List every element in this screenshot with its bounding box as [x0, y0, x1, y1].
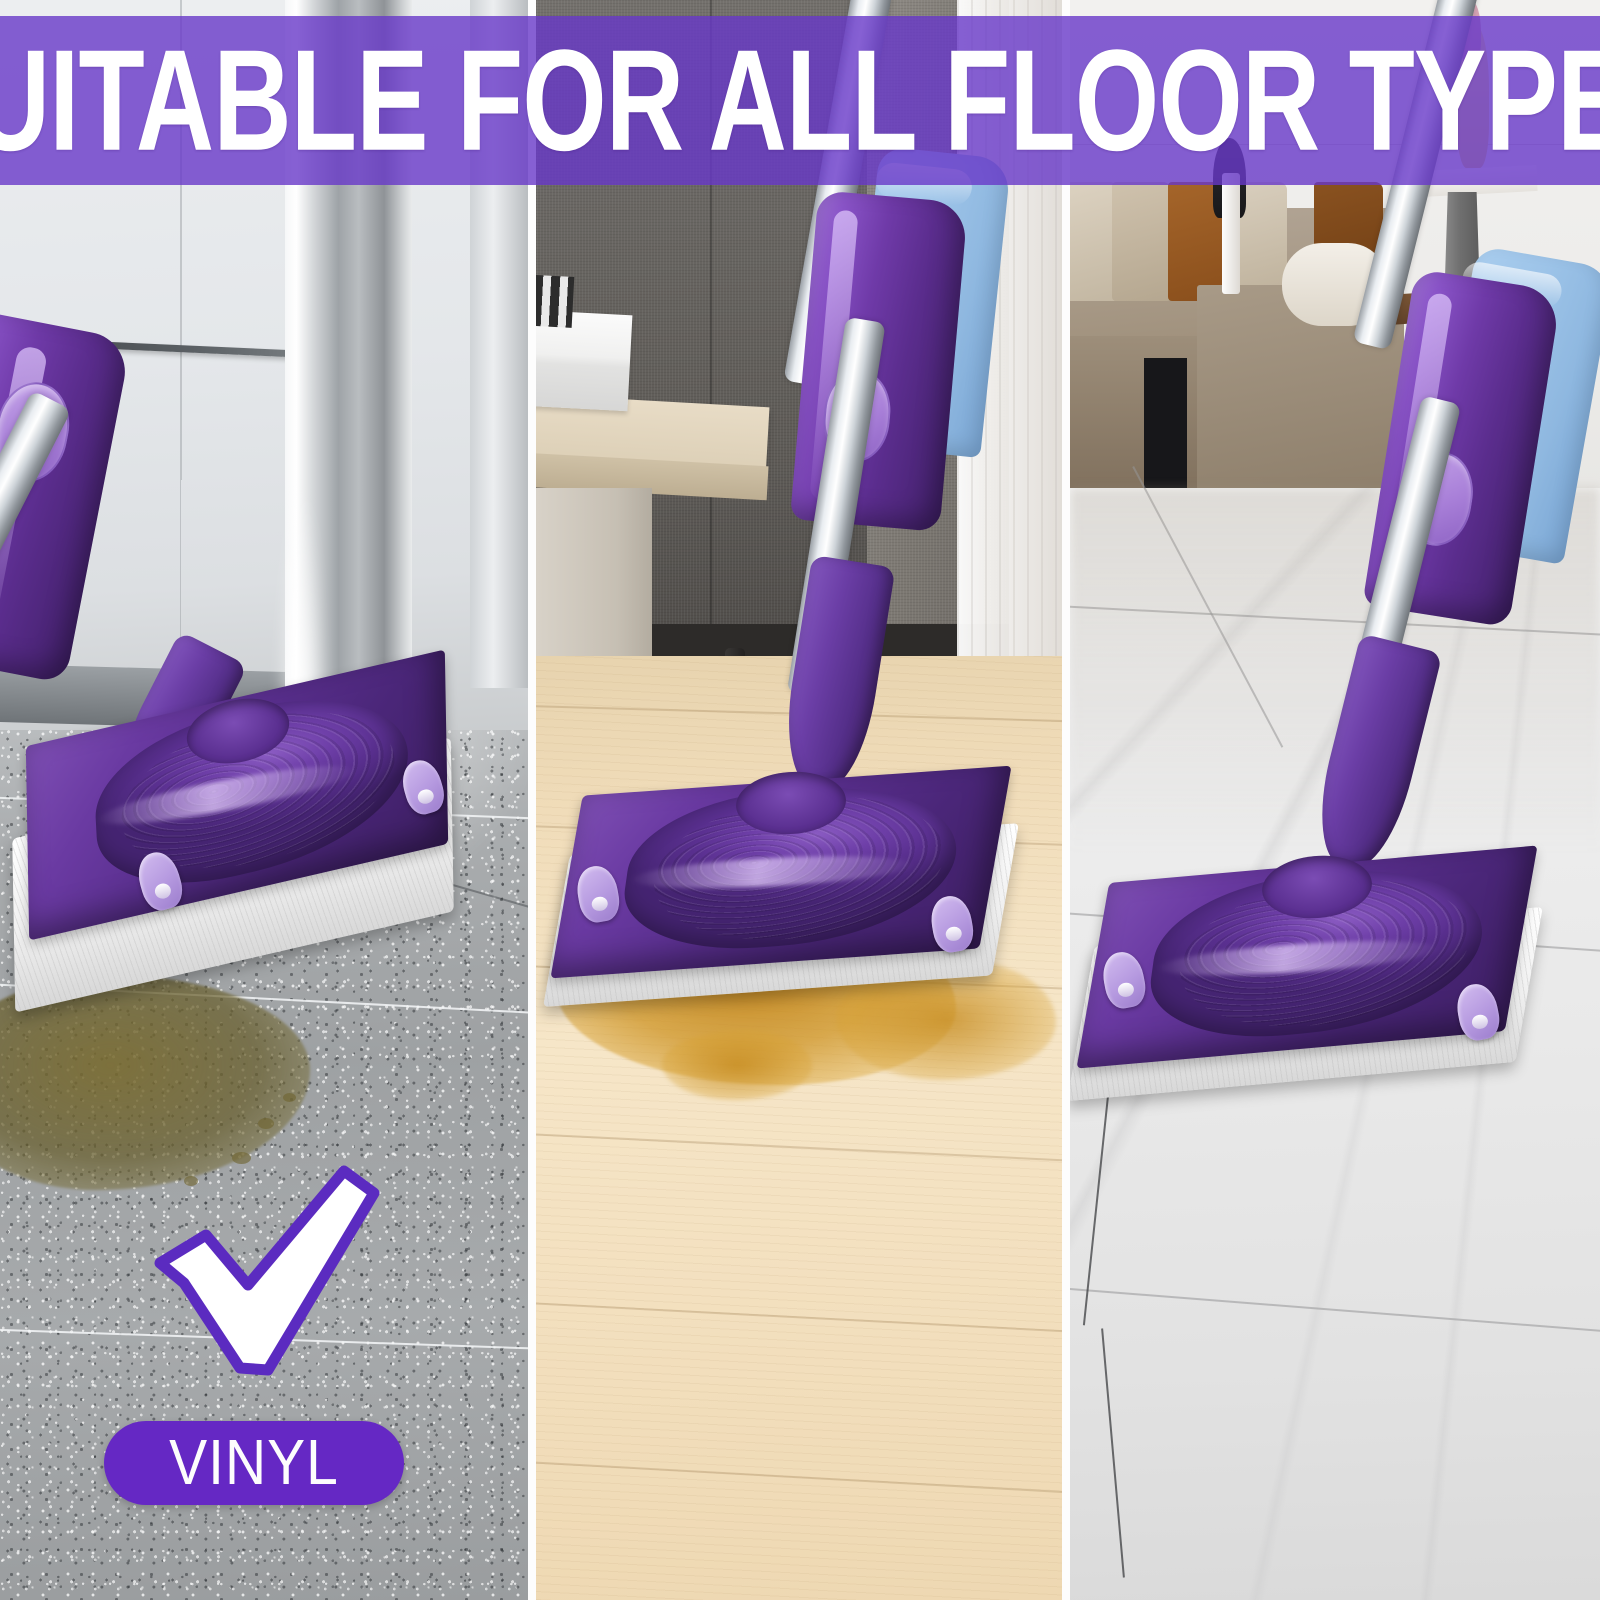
banner-title: SUITABLE FOR ALL FLOOR TYPES: [0, 29, 1600, 173]
side-console: [1144, 358, 1186, 502]
spill-droplet: [283, 1093, 296, 1102]
book-cover-graphic: [536, 273, 574, 328]
panel-divider: [528, 0, 536, 1600]
floor-type-pill-vinyl[interactable]: VINYL: [104, 1421, 404, 1505]
pill-label-vinyl: VINYL: [169, 1431, 339, 1495]
liquid-spill-secondary: [662, 1030, 812, 1100]
panel-hardwood: HARDWOOD: [536, 0, 1062, 1600]
sofa-cushion: [1070, 182, 1118, 300]
sofa-cushion: [1112, 182, 1170, 300]
panel-vinyl: VINYL: [0, 0, 528, 1600]
spill-droplet: [258, 1118, 274, 1129]
product-feature-image: VINYL: [0, 0, 1600, 1600]
panel-tile: TILE: [1070, 0, 1600, 1600]
panel-divider: [1062, 0, 1070, 1600]
checkmark-icon-vinyl: [148, 1163, 380, 1378]
table-lamp-body: [1222, 173, 1240, 295]
header-banner: SUITABLE FOR ALL FLOOR TYPES: [0, 16, 1600, 185]
